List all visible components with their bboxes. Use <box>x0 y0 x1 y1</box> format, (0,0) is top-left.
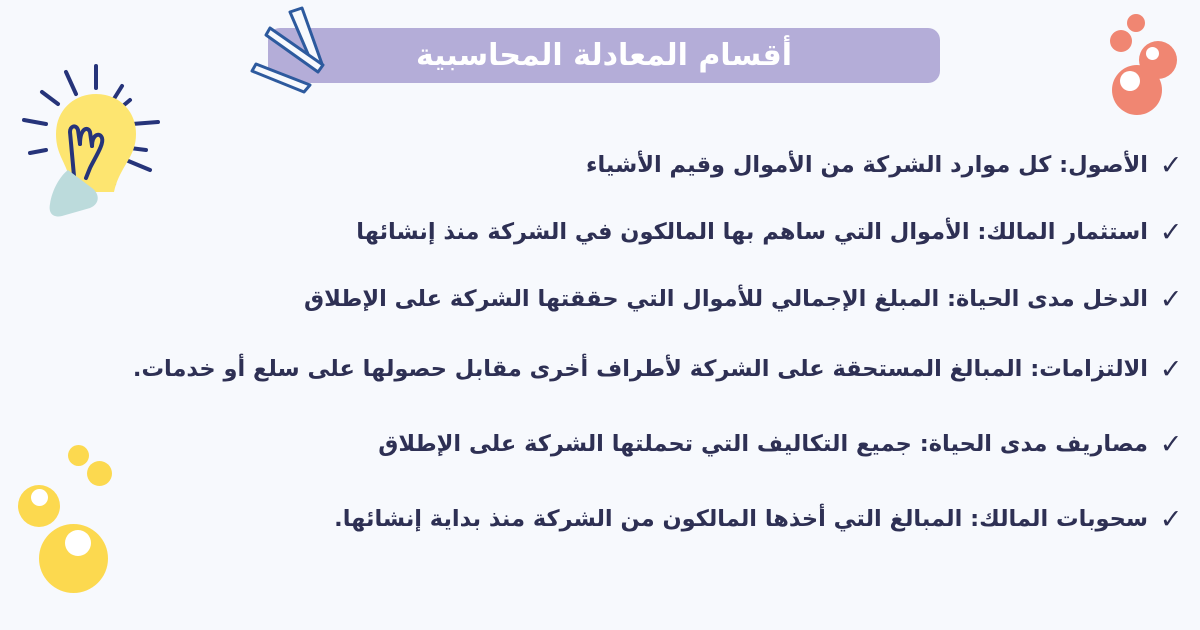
page-title: أقسام المعادلة المحاسبية <box>416 38 792 73</box>
check-icon: ✓ <box>1156 506 1186 533</box>
bubble-highlight <box>1120 71 1140 91</box>
list-item: ✓ الالتزامات: المبالغ المستحقة على الشرك… <box>0 333 1200 405</box>
coral-bubble-large <box>1112 65 1162 115</box>
list-item: ✓ استثمار المالك: الأموال التي ساهم بها … <box>0 199 1200 266</box>
check-icon: ✓ <box>1156 152 1186 179</box>
list-item: ✓ مصاريف مدى الحياة: جميع التكاليف التي … <box>0 405 1200 483</box>
coral-bubble-small-1 <box>1127 14 1145 32</box>
list-item-label: الأصول: كل موارد الشركة من الأموال وقيم … <box>586 151 1156 179</box>
check-icon: ✓ <box>1156 219 1186 246</box>
list-item-label: الدخل مدى الحياة: المبلغ الإجمالي للأموا… <box>304 285 1156 313</box>
list-item-label: الالتزامات: المبالغ المستحقة على الشركة … <box>133 355 1156 383</box>
ray-3 <box>252 64 310 92</box>
list-item: ✓ الأصول: كل موارد الشركة من الأموال وقي… <box>0 132 1200 199</box>
check-icon: ✓ <box>1156 286 1186 313</box>
list-item-label: استثمار المالك: الأموال التي ساهم بها ال… <box>356 218 1156 246</box>
check-icon: ✓ <box>1156 356 1186 383</box>
coral-bubble-small-2 <box>1110 30 1132 52</box>
burst-rays <box>246 2 366 102</box>
list-item-label: سحوبات المالك: المبالغ التي أخذها المالك… <box>334 505 1156 533</box>
burst-rays-svg <box>246 2 366 102</box>
bubble-highlight <box>1146 47 1159 60</box>
check-icon: ✓ <box>1156 431 1186 458</box>
page-title-bar: أقسام المعادلة المحاسبية <box>268 28 940 83</box>
list-item: ✓ سحوبات المالك: المبالغ التي أخذها الما… <box>0 483 1200 555</box>
checklist: ✓ الأصول: كل موارد الشركة من الأموال وقي… <box>0 132 1200 555</box>
list-item-label: مصاريف مدى الحياة: جميع التكاليف التي تح… <box>378 430 1156 458</box>
list-item: ✓ الدخل مدى الحياة: المبلغ الإجمالي للأم… <box>0 266 1200 333</box>
infographic-page: أقسام المعادلة المحاسبية <box>0 0 1200 630</box>
